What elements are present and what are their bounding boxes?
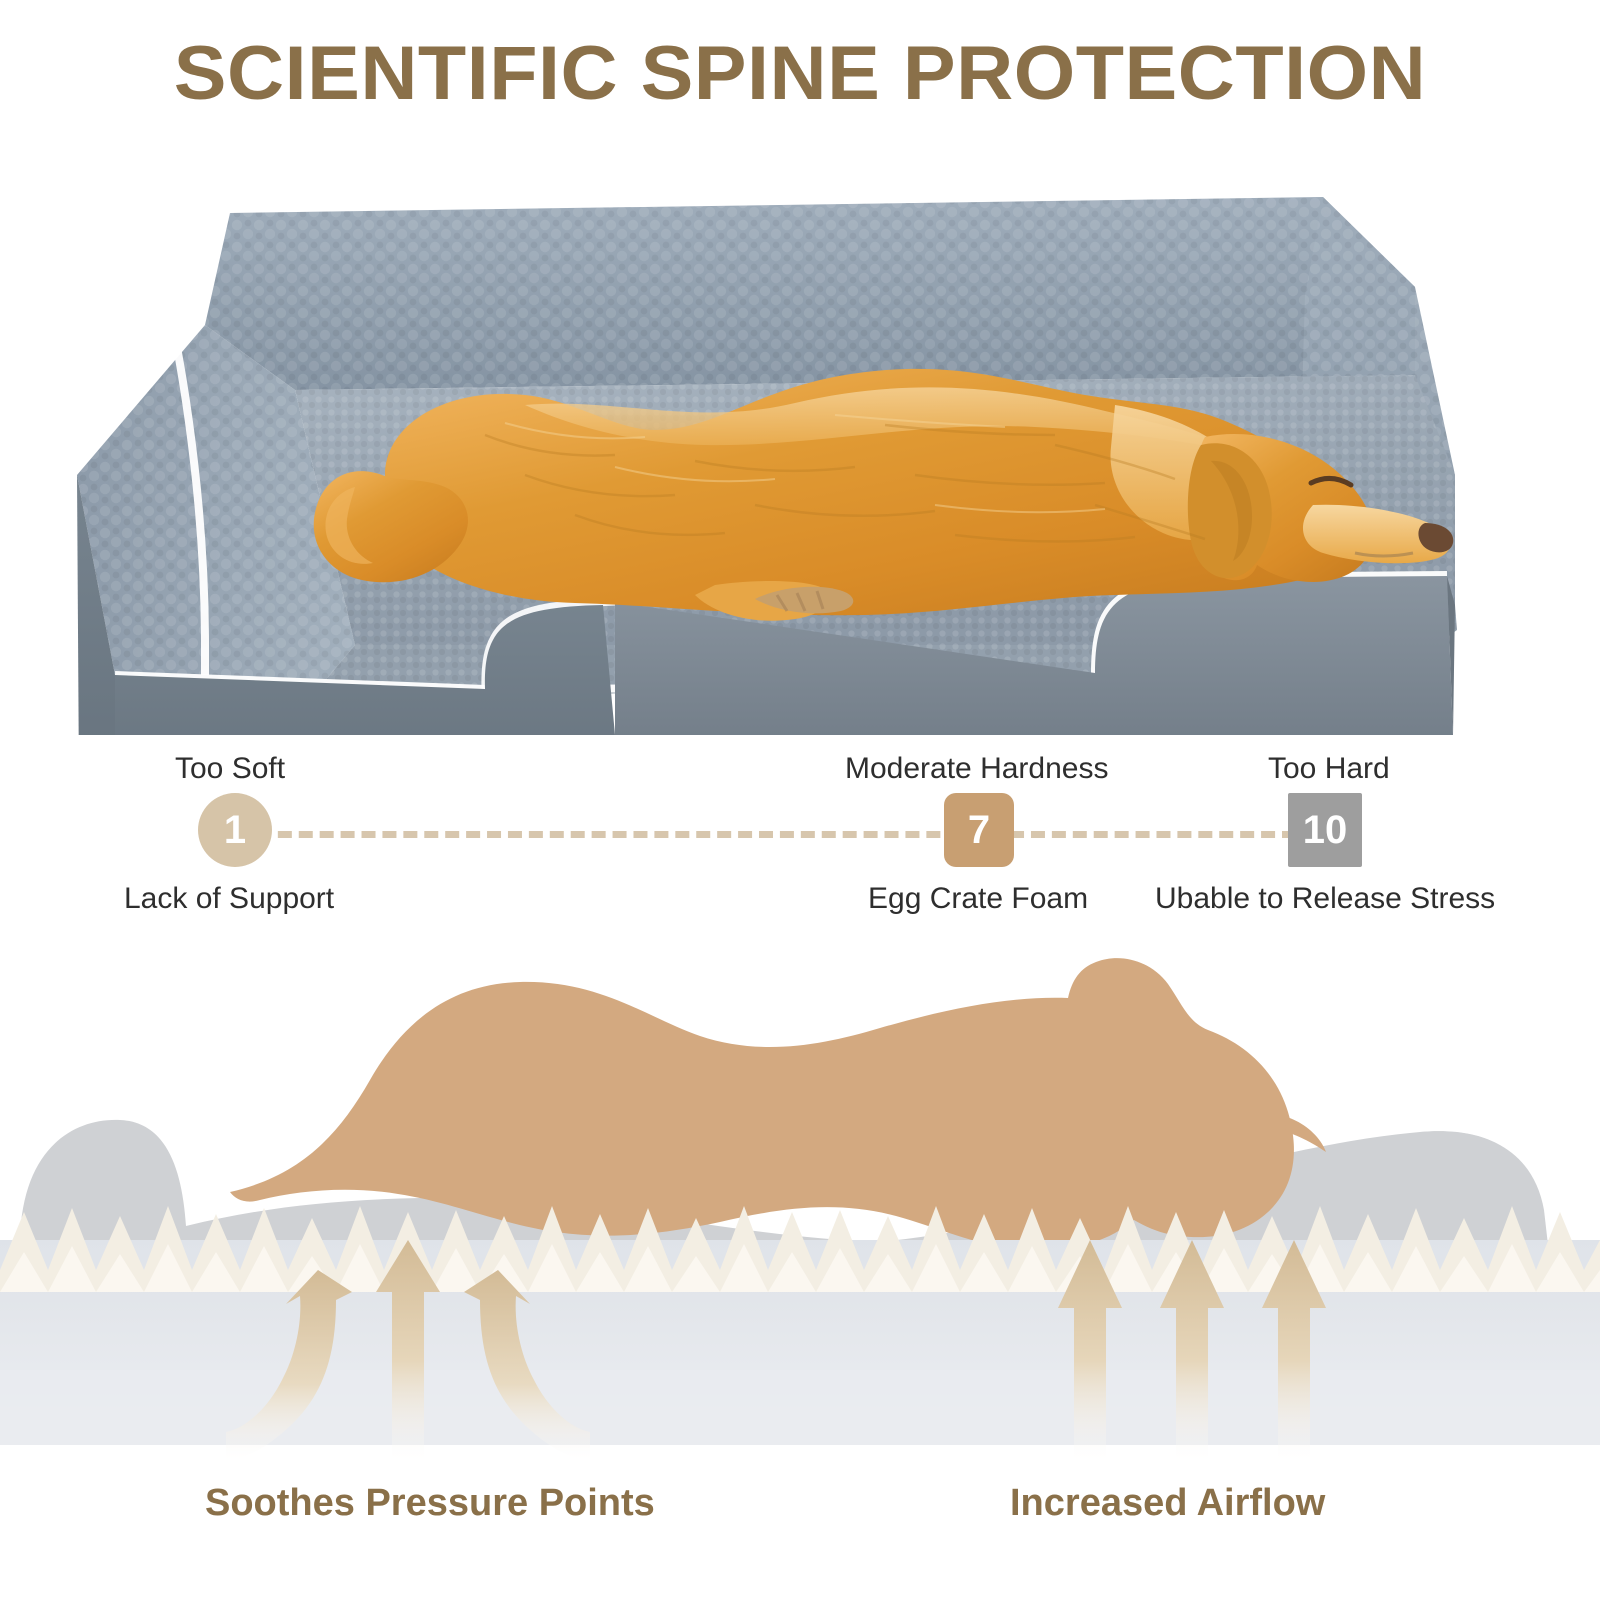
cross-section-illustration <box>0 940 1600 1500</box>
scale-label-too-soft: Too Soft <box>175 752 285 786</box>
scale-marker-1: 1 <box>198 793 272 867</box>
caption-increased-airflow: Increased Airflow <box>1010 1482 1325 1525</box>
scale-caption-unable-to-release-stress: Ubable to Release Stress <box>1155 882 1495 916</box>
product-hero-image <box>55 175 1555 735</box>
caption-soothes-pressure-points: Soothes Pressure Points <box>205 1482 655 1525</box>
scale-marker-7: 7 <box>944 793 1014 867</box>
foam-cross-section-diagram <box>0 940 1600 1500</box>
scale-caption-egg-crate-foam: Egg Crate Foam <box>868 882 1088 916</box>
egg-crate-foam-layer <box>0 1206 1600 1450</box>
page-title: SCIENTIFIC SPINE PROTECTION <box>0 30 1600 117</box>
scale-caption-lack-of-support: Lack of Support <box>124 882 334 916</box>
scale-track <box>236 831 1296 838</box>
scale-label-too-hard: Too Hard <box>1268 752 1390 786</box>
airflow-arrows <box>1058 1240 1326 1460</box>
scale-label-moderate-hardness: Moderate Hardness <box>845 752 1108 786</box>
scale-marker-10: 10 <box>1288 793 1362 867</box>
dog-bed-illustration <box>55 175 1555 735</box>
